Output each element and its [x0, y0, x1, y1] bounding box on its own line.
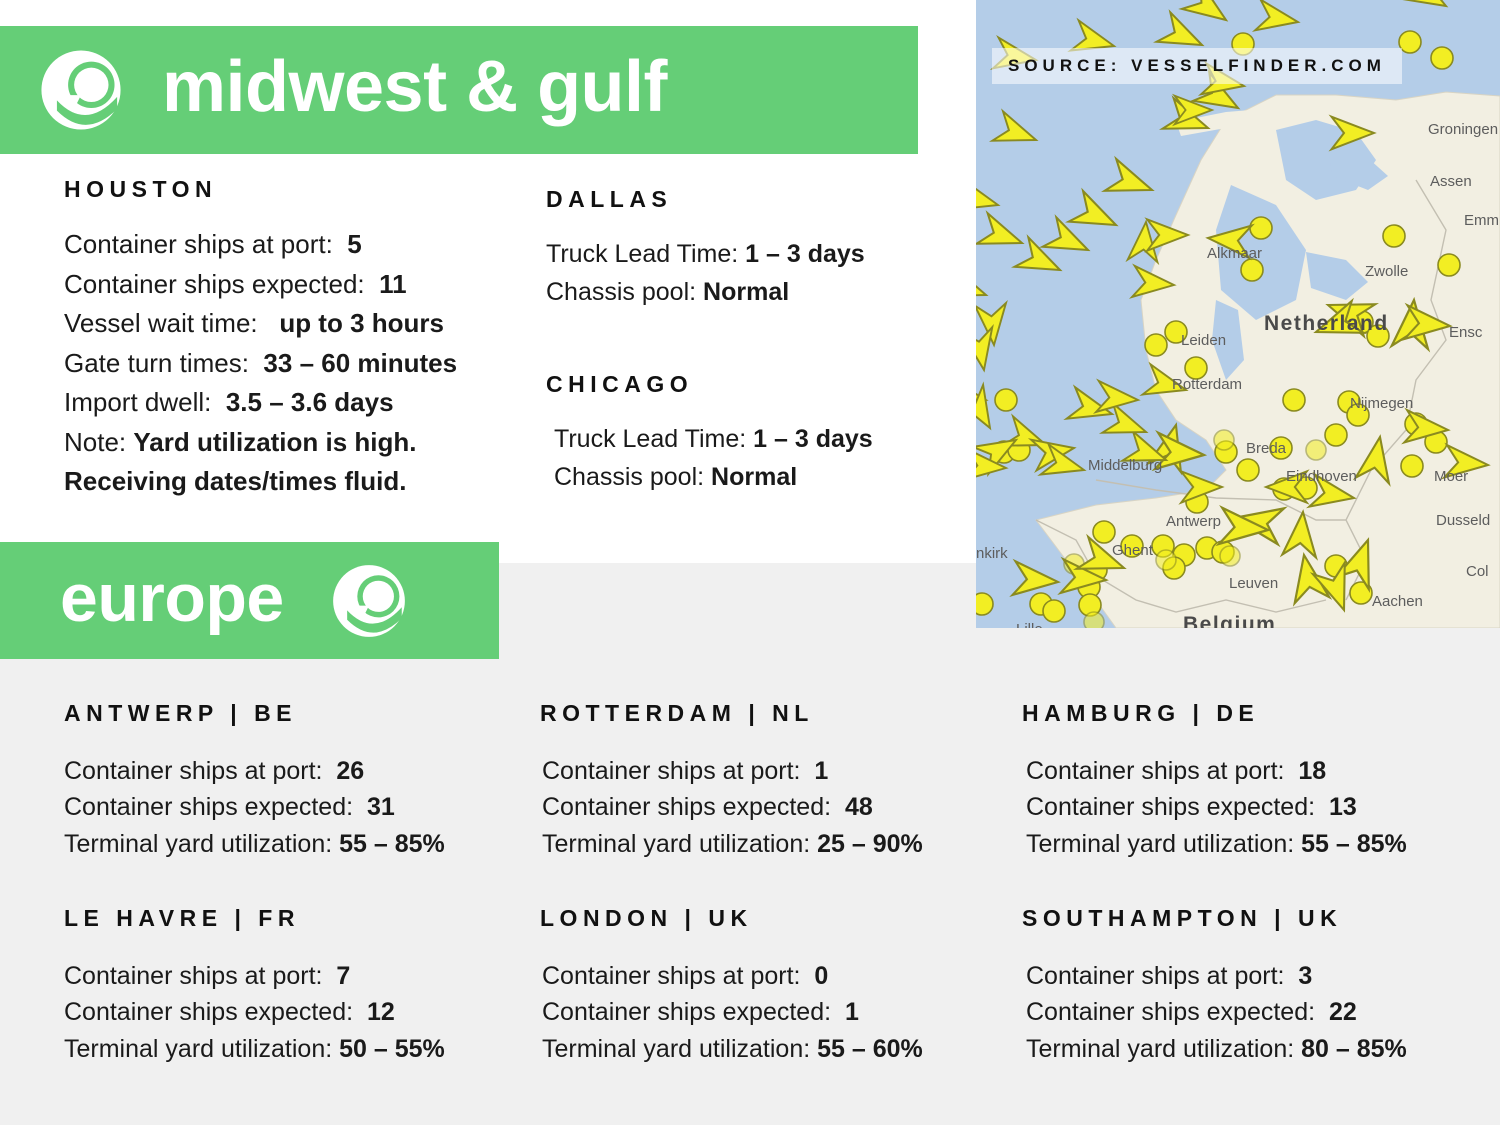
port-row: Container ships at port: 7 — [64, 958, 534, 994]
le-havre-title: LE HAVRE | FR — [64, 905, 534, 932]
row-label: Note: — [64, 427, 126, 457]
row-label: Gate turn times: — [64, 348, 249, 378]
row-label: Container ships at port: — [1026, 757, 1284, 785]
row-label: Container ships at port: — [542, 962, 800, 990]
row-label: Terminal yard utilization: — [542, 1035, 810, 1063]
chicago-title: CHICAGO — [546, 371, 946, 398]
row-value: 55 – 60% — [817, 1035, 923, 1063]
map-source-label: SOURCE: VESSELFINDER.COM — [992, 48, 1402, 84]
port-row: Container ships expected: 1 — [540, 994, 1010, 1030]
houston-card: HOUSTON Container ships at port: 5 Conta… — [64, 176, 524, 502]
row-label: Truck Lead Time: — [554, 425, 746, 453]
row-value: 33 – 60 minutes — [263, 348, 457, 378]
row-value: 22 — [1329, 998, 1357, 1026]
dallas-card: DALLAS Truck Lead Time: 1 – 3 days Chass… — [546, 186, 946, 311]
row-value: 3.5 – 3.6 days — [226, 387, 394, 417]
row-value: 7 — [336, 962, 350, 990]
row-label: Container ships expected: — [542, 793, 831, 821]
houston-row: Gate turn times: 33 – 60 minutes — [64, 344, 524, 384]
houston-note-line2: Receiving dates/times fluid. — [64, 462, 524, 502]
row-value: Receiving dates/times fluid. — [64, 466, 406, 496]
row-value: 5 — [347, 229, 361, 259]
port-row: Terminal yard utilization: 25 – 90% — [540, 826, 1010, 862]
europe-banner-title: europe — [60, 564, 284, 632]
refresh-circle-logo-icon — [38, 47, 124, 133]
infographic-page: midwest & gulf HOUSTON Container ships a… — [0, 0, 1500, 1125]
map-graphic — [976, 0, 1500, 628]
port-row: Container ships expected: 31 — [64, 789, 534, 825]
midwest-banner-title: midwest & gulf — [162, 51, 667, 123]
port-row: Container ships at port: 18 — [1022, 753, 1492, 789]
houston-row: Vessel wait time: up to 3 hours — [64, 304, 524, 344]
le-havre-card: LE HAVRE | FR Container ships at port: 7… — [64, 905, 534, 1067]
row-value: 1 – 3 days — [753, 425, 873, 453]
houston-row: Import dwell: 3.5 – 3.6 days — [64, 383, 524, 423]
antwerp-card: ANTWERP | BE Container ships at port: 26… — [64, 700, 534, 862]
row-label: Terminal yard utilization: — [64, 830, 332, 858]
port-row: Terminal yard utilization: 55 – 85% — [1022, 826, 1492, 862]
row-value: 18 — [1298, 757, 1326, 785]
row-value: up to 3 hours — [279, 308, 444, 338]
houston-note: Note: Yard utilization is high. — [64, 423, 524, 463]
hamburg-title: HAMBURG | DE — [1022, 700, 1492, 727]
row-value: 50 – 55% — [339, 1035, 445, 1063]
row-label: Container ships expected: — [64, 793, 353, 821]
row-label: Container ships expected: — [1026, 998, 1315, 1026]
houston-title: HOUSTON — [64, 176, 524, 203]
houston-row: Container ships at port: 5 — [64, 225, 524, 265]
port-row: Container ships expected: 48 — [540, 789, 1010, 825]
midwest-content: HOUSTON Container ships at port: 5 Conta… — [0, 176, 960, 546]
row-value: 1 – 3 days — [745, 240, 865, 268]
row-label: Container ships expected: — [542, 998, 831, 1026]
hamburg-card: HAMBURG | DE Container ships at port: 18… — [1022, 700, 1492, 862]
row-label: Terminal yard utilization: — [64, 1035, 332, 1063]
row-label: Container ships expected: — [64, 998, 353, 1026]
row-label: Container ships at port: — [64, 229, 333, 259]
row-label: Container ships at port: — [1026, 962, 1284, 990]
vessel-traffic-map[interactable]: SOURCE: VESSELFINDER.COM GroningenAssenE… — [976, 0, 1500, 628]
port-row: Container ships at port: 0 — [540, 958, 1010, 994]
london-title: LONDON | UK — [540, 905, 1010, 932]
row-value: Normal — [711, 463, 797, 491]
row-label: Terminal yard utilization: — [1026, 1035, 1294, 1063]
row-value: Normal — [703, 278, 789, 306]
row-value: 26 — [336, 757, 364, 785]
europe-banner: europe — [0, 542, 499, 659]
port-row: Terminal yard utilization: 80 – 85% — [1022, 1031, 1492, 1067]
chicago-row: Truck Lead Time: 1 – 3 days — [546, 420, 946, 458]
port-row: Terminal yard utilization: 50 – 55% — [64, 1031, 534, 1067]
port-row: Container ships at port: 26 — [64, 753, 534, 789]
row-label: Terminal yard utilization: — [1026, 830, 1294, 858]
row-value: 80 – 85% — [1301, 1035, 1407, 1063]
row-value: 1 — [814, 757, 828, 785]
row-value: 55 – 85% — [339, 830, 445, 858]
row-label: Container ships at port: — [542, 757, 800, 785]
port-row: Container ships expected: 12 — [64, 994, 534, 1030]
port-row: Container ships expected: 13 — [1022, 789, 1492, 825]
row-label: Container ships at port: — [64, 757, 322, 785]
dallas-row: Truck Lead Time: 1 – 3 days — [546, 235, 946, 273]
row-label: Import dwell: — [64, 387, 211, 417]
houston-row: Container ships expected: 11 — [64, 265, 524, 305]
dallas-title: DALLAS — [546, 186, 946, 213]
london-card: LONDON | UK Container ships at port: 0 C… — [540, 905, 1010, 1067]
refresh-circle-logo-icon — [330, 562, 408, 640]
rotterdam-title: ROTTERDAM | NL — [540, 700, 1010, 727]
row-value: 55 – 85% — [1301, 830, 1407, 858]
port-row: Terminal yard utilization: 55 – 60% — [540, 1031, 1010, 1067]
row-value: 25 – 90% — [817, 830, 923, 858]
southampton-card: SOUTHAMPTON | UK Container ships at port… — [1022, 905, 1492, 1067]
row-value: 12 — [367, 998, 395, 1026]
row-label: Truck Lead Time: — [546, 240, 738, 268]
row-label: Chassis pool: — [546, 278, 696, 306]
dallas-row: Chassis pool: Normal — [546, 273, 946, 311]
row-value: 48 — [845, 793, 873, 821]
port-row: Container ships expected: 22 — [1022, 994, 1492, 1030]
chicago-card: CHICAGO Truck Lead Time: 1 – 3 days Chas… — [546, 371, 946, 496]
row-value: 31 — [367, 793, 395, 821]
midwest-banner: midwest & gulf — [0, 26, 918, 154]
row-value: 3 — [1298, 962, 1312, 990]
row-value: Yard utilization is high. — [133, 427, 416, 457]
rotterdam-card: ROTTERDAM | NL Container ships at port: … — [540, 700, 1010, 862]
midwest-inland-column: DALLAS Truck Lead Time: 1 – 3 days Chass… — [546, 186, 946, 496]
row-label: Container ships expected: — [1026, 793, 1315, 821]
row-value: 13 — [1329, 793, 1357, 821]
port-row: Container ships at port: 1 — [540, 753, 1010, 789]
row-value: 11 — [379, 269, 407, 299]
row-label: Container ships at port: — [64, 962, 322, 990]
row-label: Container ships expected: — [64, 269, 365, 299]
antwerp-title: ANTWERP | BE — [64, 700, 534, 727]
row-label: Terminal yard utilization: — [542, 830, 810, 858]
port-row: Terminal yard utilization: 55 – 85% — [64, 826, 534, 862]
row-label: Chassis pool: — [554, 463, 704, 491]
chicago-row: Chassis pool: Normal — [546, 458, 946, 496]
port-row: Container ships at port: 3 — [1022, 958, 1492, 994]
row-value: 1 — [845, 998, 859, 1026]
row-label: Vessel wait time: — [64, 308, 258, 338]
row-value: 0 — [814, 962, 828, 990]
southampton-title: SOUTHAMPTON | UK — [1022, 905, 1492, 932]
